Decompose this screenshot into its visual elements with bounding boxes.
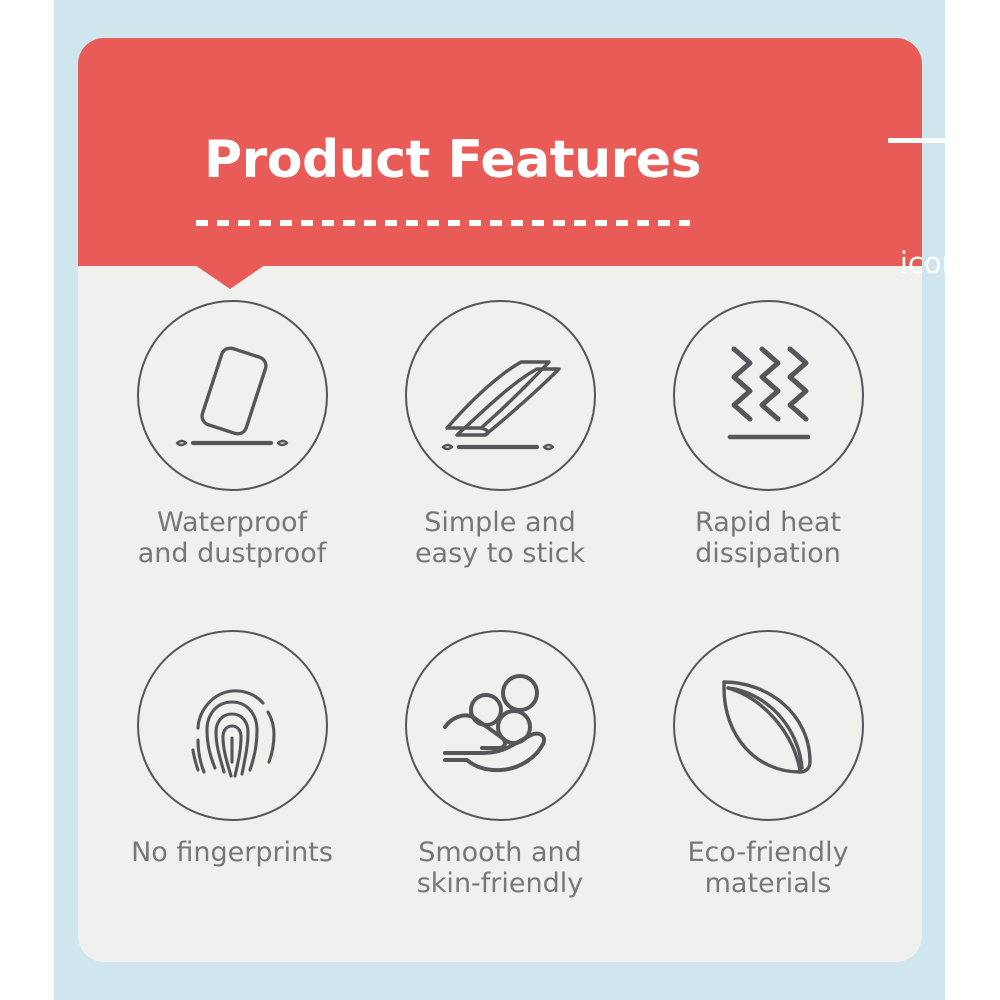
peeling-film-icon <box>405 300 596 491</box>
feature-label: Smooth and skin-friendly <box>417 837 584 899</box>
feature-item-skin-friendly: Smooth and skin-friendly <box>366 630 634 960</box>
hand-bubbles-icon <box>405 630 596 821</box>
banner-icon-label: icon <box>778 246 960 280</box>
page-title: Product Features <box>204 130 701 190</box>
leaf-icon <box>673 630 864 821</box>
feature-label: Waterproof and dustproof <box>138 507 326 569</box>
fingerprint-icon <box>137 630 328 821</box>
features-grid: Waterproof and dustproof Simple and easy… <box>98 300 902 960</box>
feature-item-waterproof: Waterproof and dustproof <box>98 300 366 630</box>
banner-tail-icon <box>195 265 265 289</box>
feature-item-no-fingerprints: No fingerprints <box>98 630 366 960</box>
banner-dashed-divider <box>196 220 690 226</box>
feature-label: Rapid heat dissipation <box>695 507 841 569</box>
feature-item-heat: Rapid heat dissipation <box>634 300 902 630</box>
feature-label: Simple and easy to stick <box>415 507 585 569</box>
feature-item-eco-friendly: Eco-friendly materials <box>634 630 902 960</box>
header-banner: Product Features icon <box>78 38 922 266</box>
feature-item-easy-stick: Simple and easy to stick <box>366 300 634 630</box>
feature-label: No fingerprints <box>131 837 333 868</box>
feature-label: Eco-friendly materials <box>687 837 848 899</box>
waterproof-phone-icon <box>137 300 328 491</box>
infographic-root: Product Features icon Waterproof and dus… <box>0 0 1000 1000</box>
heat-waves-icon <box>673 300 864 491</box>
banner-accent-bar <box>888 138 960 143</box>
